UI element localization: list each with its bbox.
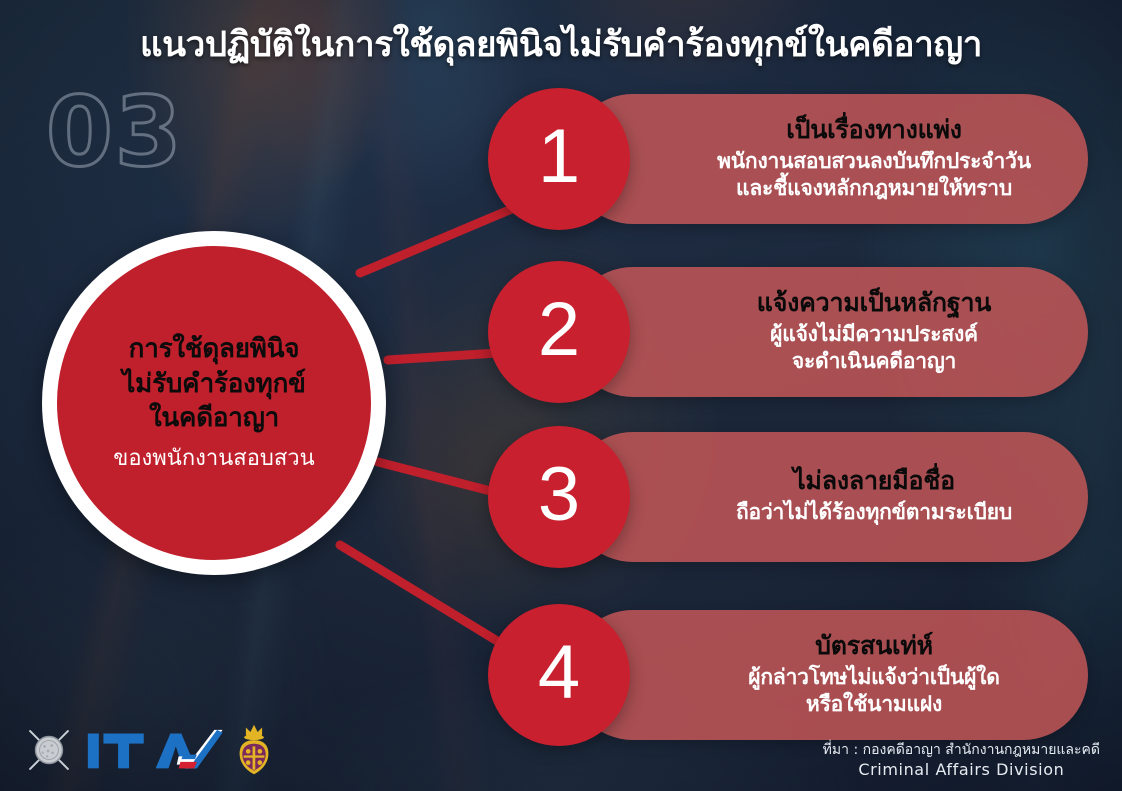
item-3-number-circle: 3 <box>488 426 630 568</box>
item-4-number-circle: 4 <box>488 604 630 746</box>
logo-group <box>22 721 274 779</box>
hub-line-3: ในคดีอาญา <box>149 401 279 436</box>
item-2-number: 2 <box>538 292 580 368</box>
central-hub-circle: การใช้ดุลยพินิจ ไม่รับคำร้องทุกข์ ในคดีอ… <box>42 231 386 575</box>
list-item: แจ้งความเป็นหลักฐาน ผู้แจ้งไม่มีความประส… <box>488 261 1088 403</box>
page-title: แนวปฏิบัติในการใช้ดุลยพินิจไม่รับคำร้องท… <box>0 17 1122 72</box>
item-1-heading: เป็นเรื่องทางแพ่ง <box>786 115 962 146</box>
source-credit-thai: ที่มา : กองคดีอาญา สำนักงานกฎหมายและคดี <box>823 741 1100 760</box>
item-2-pill: แจ้งความเป็นหลักฐาน ผู้แจ้งไม่มีความประส… <box>568 267 1088 397</box>
item-2-body-1: ผู้แจ้งไม่มีความประสงค์ <box>770 321 978 348</box>
section-number-03: 03 <box>46 84 184 180</box>
item-1-pill: เป็นเรื่องทางแพ่ง พนักงานสอบสวนลงบันทึกป… <box>568 94 1088 224</box>
hub-subtitle: ของพนักงานสอบสวน <box>113 445 314 474</box>
hub-line-1: การใช้ดุลยพินิจ <box>129 332 300 367</box>
item-4-number: 4 <box>538 635 580 711</box>
item-1-body-2: และชี้แจงหลักกฎหมายให้ทราบ <box>736 175 1012 202</box>
mace-emblem-icon <box>22 723 76 777</box>
item-2-heading: แจ้งความเป็นหลักฐาน <box>757 288 991 319</box>
ita-logo-icon <box>86 728 224 772</box>
item-4-body-1: ผู้กล่าวโทษไม่แจ้งว่าเป็นผู้ใด <box>748 664 999 691</box>
list-item: เป็นเรื่องทางแพ่ง พนักงานสอบสวนลงบันทึกป… <box>488 88 1088 230</box>
hub-line-2: ไม่รับคำร้องทุกข์ <box>122 367 305 402</box>
item-2-body-2: จะดำเนินคดีอาญา <box>792 348 956 375</box>
item-3-body-1: ถือว่าไม่ได้ร้องทุกข์ตามระเบียบ <box>736 499 1012 526</box>
item-3-number: 3 <box>538 457 580 533</box>
infographic-poster: แนวปฏิบัติในการใช้ดุลยพินิจไม่รับคำร้องท… <box>0 0 1122 791</box>
item-3-heading: ไม่ลงลายมือชื่อ <box>793 466 955 497</box>
source-credit: ที่มา : กองคดีอาญา สำนักงานกฎหมายและคดี … <box>823 741 1100 781</box>
source-credit-english: Criminal Affairs Division <box>823 759 1100 781</box>
item-1-number: 1 <box>538 119 580 195</box>
item-4-pill: บัตรสนเท่ห์ ผู้กล่าวโทษไม่แจ้งว่าเป็นผู้… <box>568 610 1088 740</box>
item-2-number-circle: 2 <box>488 261 630 403</box>
list-item: ไม่ลงลายมือชื่อ ถือว่าไม่ได้ร้องทุกข์ตาม… <box>488 426 1088 568</box>
item-1-body-1: พนักงานสอบสวนลงบันทึกประจำวัน <box>717 148 1031 175</box>
item-4-body-2: หรือใช้นามแฝง <box>806 691 942 718</box>
item-3-pill: ไม่ลงลายมือชื่อ ถือว่าไม่ได้ร้องทุกข์ตาม… <box>568 432 1088 562</box>
item-4-heading: บัตรสนเท่ห์ <box>815 631 933 662</box>
royal-police-crest-icon <box>234 723 274 777</box>
item-1-number-circle: 1 <box>488 88 630 230</box>
list-item: บัตรสนเท่ห์ ผู้กล่าวโทษไม่แจ้งว่าเป็นผู้… <box>488 604 1088 746</box>
